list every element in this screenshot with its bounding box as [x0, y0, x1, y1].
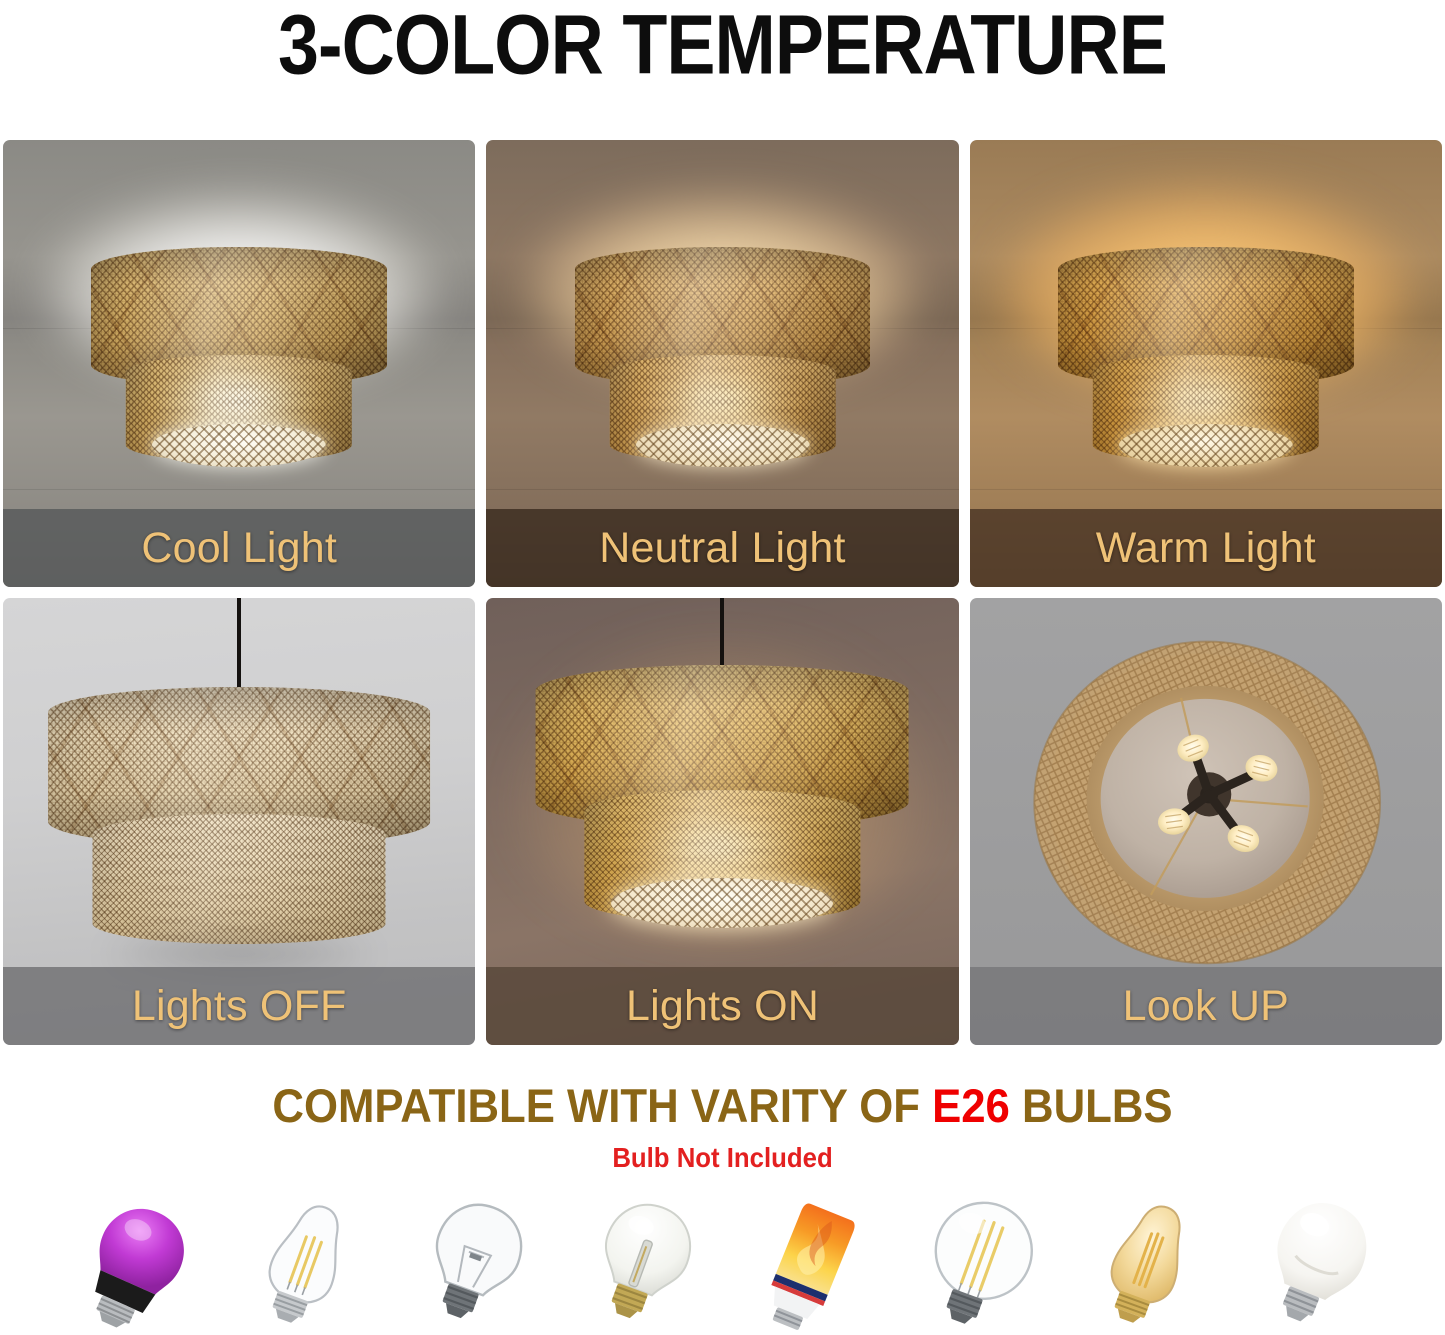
panel-caption-text: Look UP: [1123, 982, 1289, 1031]
panel-look-up: Look UP: [970, 598, 1442, 1045]
panel-caption-bar: Cool Light: [3, 509, 475, 587]
flame-effect-bulb-icon: [740, 1194, 880, 1334]
panel-lights-on: Lights ON: [486, 598, 958, 1045]
ceiling-lamp-warm: [989, 247, 1424, 515]
panel-neutral-light: Neutral Light: [486, 140, 958, 587]
bulb-base-type: E26: [932, 1079, 1010, 1132]
compatibility-prefix: COMPATIBLE WITH VARITY OF: [272, 1079, 932, 1132]
compatibility-suffix: BULBS: [1010, 1079, 1173, 1132]
lamp-drop-shadow: [107, 938, 372, 969]
page-title: 3-COLOR TEMPERATURE: [58, 0, 1387, 94]
panel-lights-off: Lights OFF: [3, 598, 475, 1045]
a19-frosted-halogen-bulb-icon: [572, 1194, 712, 1334]
panel-warm-light: Warm Light: [970, 140, 1442, 587]
panel-caption-text: Cool Light: [141, 524, 337, 573]
panel-caption-bar: Lights OFF: [3, 967, 475, 1045]
lamp-diffuser: [611, 878, 833, 928]
panel-caption-text: Warm Light: [1096, 524, 1316, 573]
a19-frosted-led-bulb-icon: [1246, 1194, 1386, 1334]
panel-cool-light: Cool Light: [3, 140, 475, 587]
ceiling-lamp-neutral: [505, 247, 940, 515]
bulb-not-included-note: Bulb Not Included: [58, 1142, 1387, 1174]
lamp-diffuser: [1119, 424, 1293, 467]
compatibility-headline: COMPATIBLE WITH VARITY OF E26 BULBS: [51, 1078, 1395, 1134]
st64-amber-vintage-bulb-icon: [1077, 1194, 1217, 1334]
panel-caption-text: Lights ON: [626, 982, 819, 1031]
panel-caption-bar: Look UP: [970, 967, 1442, 1045]
st64-clear-filament-bulb-icon: [235, 1194, 375, 1334]
panel-caption-bar: Lights ON: [486, 967, 958, 1045]
panel-caption-text: Lights OFF: [132, 982, 347, 1031]
ceiling-lamp-cool: [22, 247, 457, 515]
panel-caption-bar: Neutral Light: [486, 509, 958, 587]
panel-caption-text: Neutral Light: [599, 524, 845, 573]
lamp-diffuser: [152, 424, 326, 467]
compatible-bulb-strip: [66, 1194, 1386, 1334]
g25-globe-filament-bulb-icon: [909, 1194, 1049, 1334]
panel-caption-bar: Warm Light: [970, 509, 1442, 587]
rgb-smart-bulb-icon: [66, 1194, 206, 1334]
lamp-diffuser: [636, 424, 810, 467]
lamp-lower-tier: [93, 814, 386, 944]
feature-grid: Cool Light Neutral Light: [3, 140, 1442, 1045]
a19-clear-incandescent-bulb-icon: [403, 1194, 543, 1334]
pendant-lamp-on: [500, 665, 944, 978]
